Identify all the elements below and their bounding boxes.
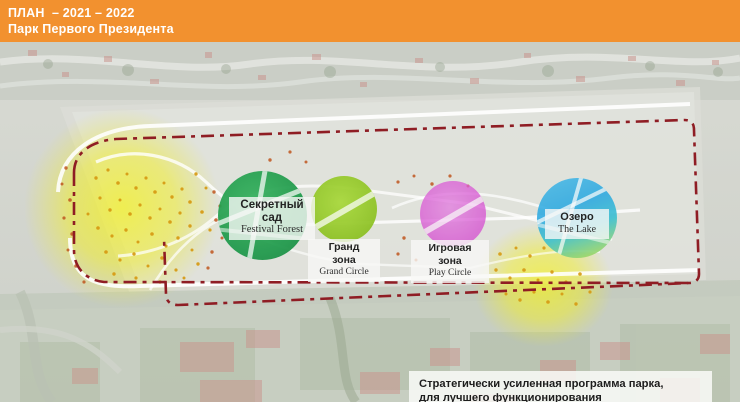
path-line <box>420 187 486 240</box>
zone-label-the-lake: Озеро The Lake <box>545 209 609 239</box>
path-line <box>311 182 377 235</box>
zone-label-en: The Lake <box>551 224 603 237</box>
caption-ru-line2: для лучшего функционирования <box>419 391 702 402</box>
zone-label-play-circle: Игровая зона Play Circle <box>411 240 489 283</box>
zone-label-grand-circle: Гранд зона Grand Circle <box>308 239 380 282</box>
header-banner: ПЛАН – 2021 – 2022 Парк Первого Президен… <box>0 0 740 42</box>
caption-ru-line1: Стратегически усиленная программа парка, <box>419 377 702 391</box>
zone-label-ru-line2: зона <box>417 255 483 268</box>
zone-label-ru-line2: зона <box>314 254 374 267</box>
zone-label-ru-line1: Секретный <box>235 199 309 212</box>
zone-label-ru-line1: Игровая <box>417 242 483 255</box>
zone-label-en: Play Circle <box>417 267 483 280</box>
satellite-map[interactable]: Секретный сад Festival Forest Гранд зона… <box>0 42 740 402</box>
zone-label-en: Festival Forest <box>235 224 309 237</box>
zone-label-en: Grand Circle <box>314 266 374 279</box>
park-name: Парк Первого Президента <box>8 21 740 37</box>
zone-label-ru-line1: Гранд <box>314 241 374 254</box>
plan-slide: ПЛАН – 2021 – 2022 Парк Первого Президен… <box>0 0 740 408</box>
zone-label-ru-line2: сад <box>235 212 309 225</box>
strategy-caption: Стратегически усиленная программа парка,… <box>409 371 712 402</box>
zone-label-festival-forest: Секретный сад Festival Forest <box>229 197 315 240</box>
zone-circle-grand[interactable] <box>311 176 377 242</box>
zone-circle-play[interactable] <box>420 181 486 247</box>
zone-label-ru-line1: Озеро <box>551 211 603 224</box>
plan-title: ПЛАН – 2021 – 2022 <box>8 5 740 21</box>
